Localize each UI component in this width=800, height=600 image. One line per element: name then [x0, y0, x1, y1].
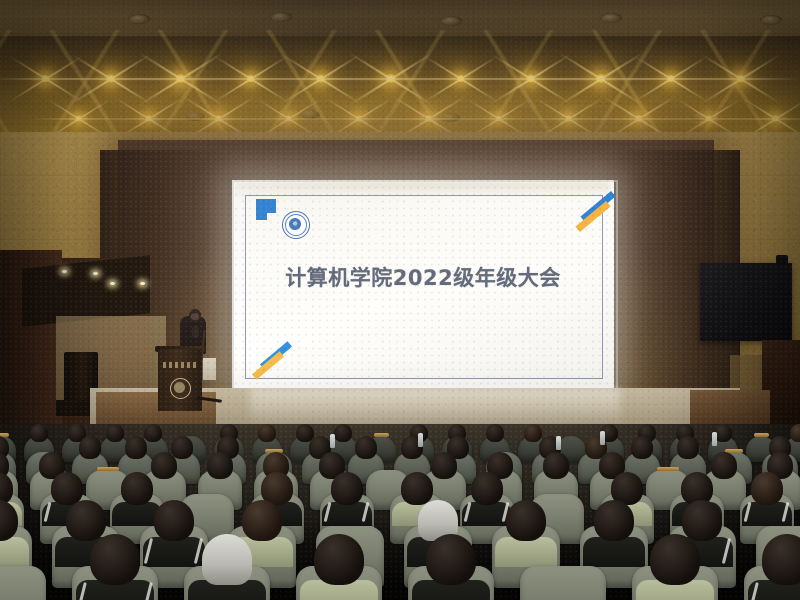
audience-person-head [144, 424, 162, 442]
audience-person-head [486, 424, 504, 442]
wall-mounted-display-icon [700, 263, 792, 341]
audience-person-head [30, 424, 48, 442]
ceiling-light [596, 74, 606, 84]
audience-person-head [762, 534, 800, 585]
audience-person-head [682, 500, 722, 541]
presenter-face [191, 313, 199, 320]
audience-person-head [121, 472, 153, 505]
audience-person-head [751, 472, 783, 505]
water-bottle [330, 434, 335, 448]
audience-person-head [426, 534, 476, 585]
ceiling-recess [600, 13, 622, 23]
audience-person-head [154, 500, 194, 541]
audience-person-head [202, 534, 252, 585]
ceiling-light [495, 115, 502, 122]
stage-floor-reflection [250, 388, 620, 428]
audience-seat [0, 566, 46, 600]
ceiling-recess [760, 15, 782, 25]
audience-person-head [790, 424, 800, 442]
ceiling-recess [128, 14, 150, 24]
seat-tray-table [97, 467, 119, 471]
water-bottle [712, 432, 717, 446]
audience-person-head [631, 436, 653, 459]
ceiling-light [214, 114, 222, 122]
audience-person-head [677, 436, 699, 459]
ceiling-light [355, 115, 363, 123]
ceiling-light [705, 115, 712, 122]
ceiling-light [246, 74, 255, 83]
audience-person-head [258, 424, 276, 442]
audience-person-head [125, 436, 147, 459]
ceiling-light [634, 114, 642, 122]
light-flare [679, 77, 800, 79]
audience-person-head [650, 534, 700, 585]
ceiling-recess [440, 16, 462, 26]
audience-person-head [151, 452, 177, 479]
wall-spotlight [110, 282, 115, 285]
ceiling-light [666, 74, 675, 83]
ceiling-recess-dim [185, 112, 205, 121]
audience-person-shoulders [583, 537, 645, 567]
audience-person-head [471, 472, 503, 505]
water-bottle [418, 433, 423, 447]
wall-spotlight [93, 272, 98, 275]
audience-person-head [207, 452, 233, 479]
podium-paper [203, 358, 216, 380]
ceiling-light [386, 74, 396, 84]
audience-person-shoulders [0, 537, 29, 567]
ceiling-light [736, 74, 745, 83]
ceiling-light [285, 115, 292, 122]
audience-person-head [90, 534, 140, 585]
audience-person-head [51, 472, 83, 505]
audience-person-head [171, 436, 193, 459]
ceiling-light [772, 115, 780, 123]
audience-person-head [355, 436, 377, 459]
ceiling-light [145, 115, 153, 123]
ceiling-light [456, 74, 465, 83]
audience-person-head [711, 452, 737, 479]
audience-person-head [543, 452, 569, 479]
audience-person-head [66, 500, 106, 541]
screen-outer-frame [232, 180, 618, 394]
ceiling-light [565, 115, 573, 123]
ceiling-glow [0, 36, 800, 146]
audience-person-head [334, 424, 352, 442]
wall-spotlight [140, 282, 145, 285]
seat-tray-table [754, 433, 769, 437]
audience-person-head [331, 472, 363, 505]
seat-tray-table [374, 433, 389, 437]
ceiling-light [176, 74, 186, 84]
seat-tray-table [657, 467, 679, 471]
ceiling-recess [270, 12, 292, 22]
wall-spotlight [62, 270, 67, 273]
audience-person-head [594, 500, 634, 541]
ceiling-light [75, 115, 82, 122]
light-flare [723, 118, 800, 120]
water-bottle [556, 436, 561, 450]
water-bottle [600, 431, 605, 445]
audience-person-head [242, 500, 282, 541]
presenter-arm [192, 326, 199, 338]
podium-emblem-core [174, 382, 185, 393]
audience-person-head [506, 500, 546, 541]
display-mount-bracket [776, 255, 788, 265]
audience-person-head [524, 424, 542, 442]
podium-label-text [163, 362, 197, 368]
audience-person-head [79, 436, 101, 459]
audience-person-head [431, 452, 457, 479]
auditorium-scene: ✵ 计算机学院2022级年级大会 [0, 0, 800, 600]
audience-person-head [106, 424, 124, 442]
audience-seat [520, 566, 606, 600]
ceiling-light [424, 114, 432, 122]
audience-person-shoulders [495, 537, 557, 567]
audience-person-head [314, 534, 364, 585]
audience-person-head [401, 472, 433, 505]
